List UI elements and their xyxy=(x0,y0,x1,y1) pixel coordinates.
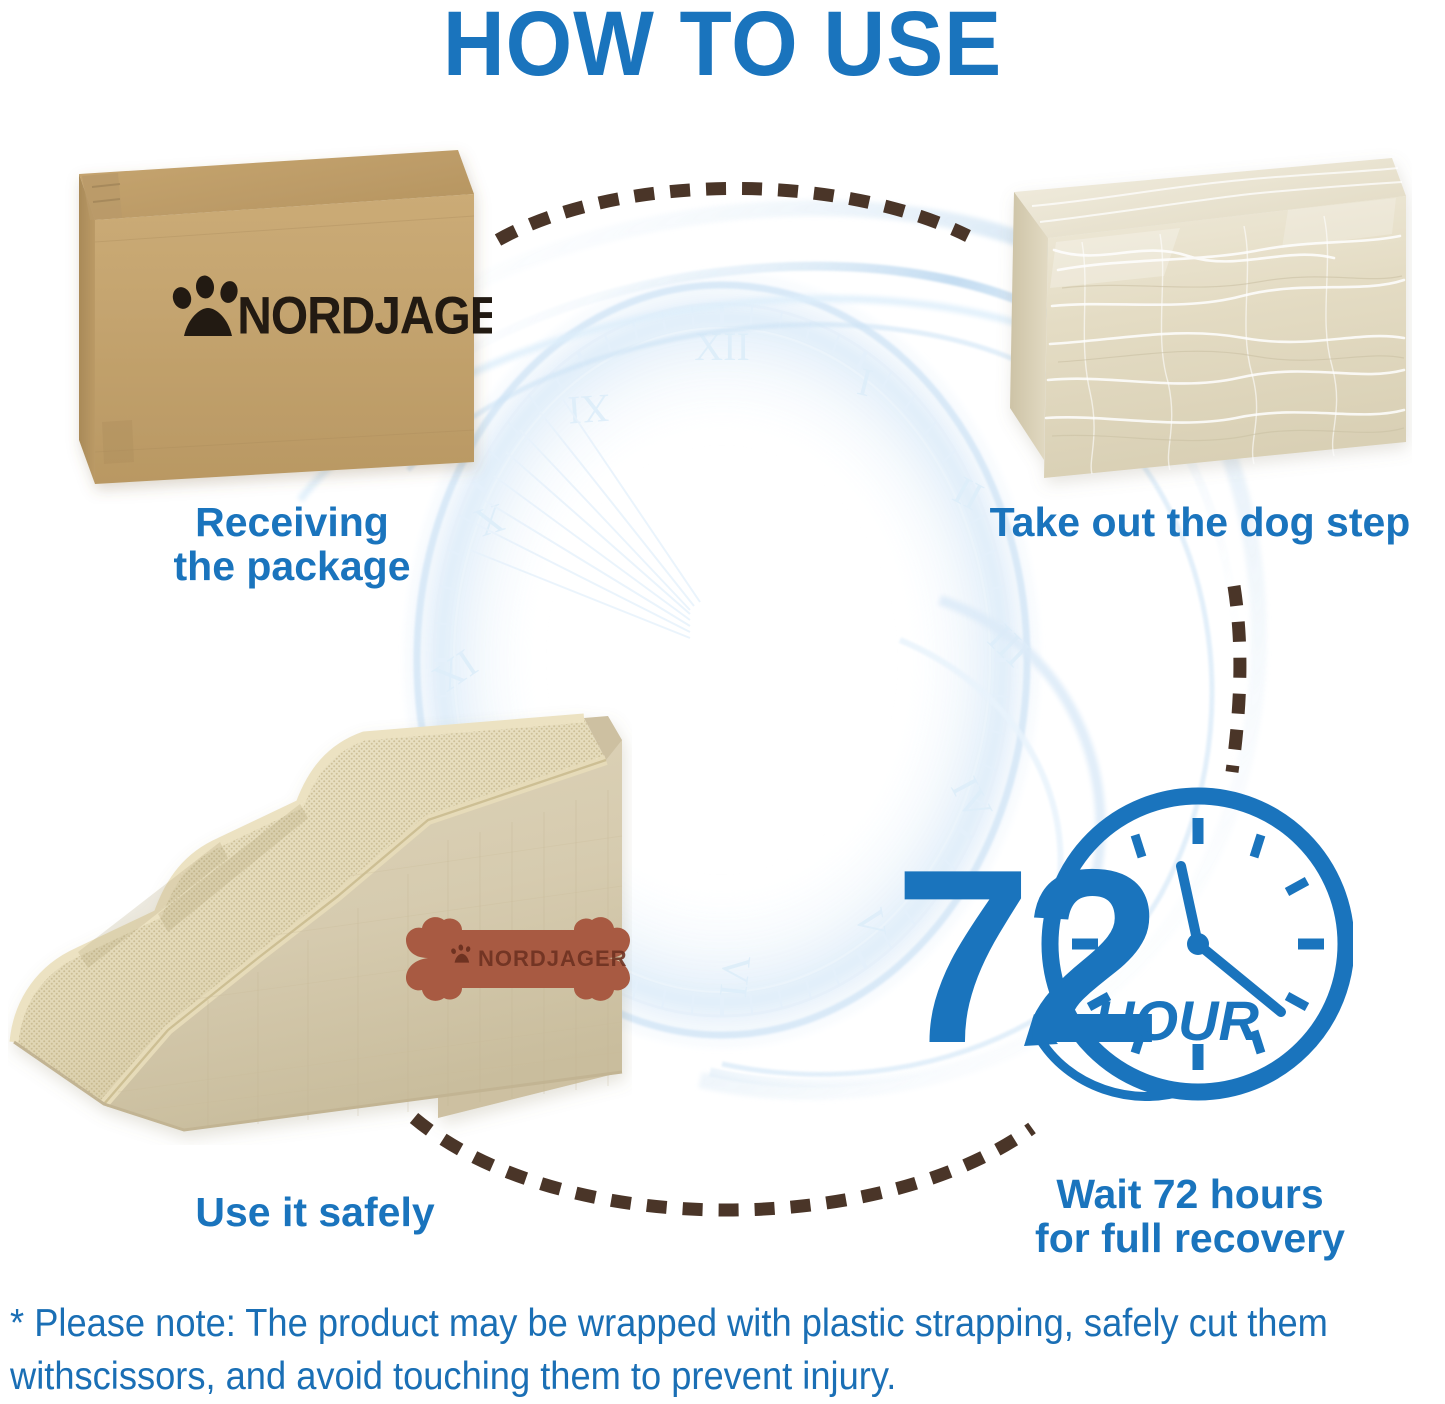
svg-text:XI: XI xyxy=(566,386,611,434)
clock-number: 72 xyxy=(898,817,1154,1095)
cardboard-box-image: NORDJAGER xyxy=(62,132,492,504)
svg-text:I: I xyxy=(853,358,877,405)
footnote-text: * Please note: The product may be wrappe… xyxy=(10,1298,1331,1403)
clock-unit: HOUR xyxy=(1094,989,1259,1052)
dashed-arrow-right xyxy=(1232,586,1240,772)
svg-text:XII: XII xyxy=(694,324,750,369)
step-label-use-safely: Use it safely xyxy=(20,1190,610,1234)
step-label-take-out: Take out the dog step xyxy=(955,500,1445,544)
svg-text:IX: IX xyxy=(425,641,485,702)
dog-step-image: NORDJAGER xyxy=(8,700,632,1145)
svg-text:NORDJAGER: NORDJAGER xyxy=(237,286,492,346)
svg-text:NORDJAGER: NORDJAGER xyxy=(478,946,628,971)
step-label-wait: Wait 72 hours for full recovery xyxy=(965,1172,1415,1261)
72-hour-clock-icon: 72 HOUR xyxy=(898,778,1353,1123)
plastic-wrapped-product-image xyxy=(992,130,1412,500)
step-label-receiving: Receiving the package xyxy=(82,500,502,589)
svg-text:III: III xyxy=(979,615,1039,675)
dashed-arrow-top xyxy=(498,188,968,240)
infographic-page: XII I II III IV V VI VII VIII IX X XI xyxy=(0,0,1445,1404)
svg-text:V: V xyxy=(847,905,896,941)
page-title: HOW TO USE xyxy=(51,0,1395,93)
svg-text:VI: VI xyxy=(711,953,760,1000)
